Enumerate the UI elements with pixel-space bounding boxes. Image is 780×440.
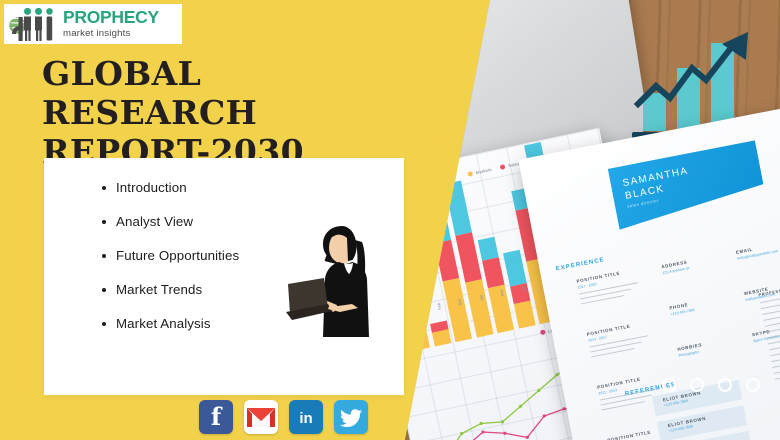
legend-swatch xyxy=(467,171,473,177)
experience-meta: 2017 - 2020 xyxy=(577,282,597,290)
experience-role: POSITION TITLE xyxy=(597,376,641,389)
list-item: Market Trends xyxy=(102,282,239,297)
list-item: Market Analysis xyxy=(102,316,239,331)
topics-list: IntroductionAnalyst ViewFuture Opportuni… xyxy=(102,180,239,350)
carousel-dot-3[interactable] xyxy=(718,378,732,392)
brand-name: PROPHECY xyxy=(63,9,159,27)
resume-header-banner: SAMANTHA BLACK sales director xyxy=(608,140,767,229)
bar-x-tick: Apr xyxy=(478,294,484,301)
experience-meta: 2014 - 2017 xyxy=(588,335,608,343)
bar-x-tick: Jun xyxy=(520,285,526,292)
line-data-point xyxy=(503,431,507,435)
legend-swatch xyxy=(500,164,506,170)
list-item: Analyst View xyxy=(102,214,239,229)
brand-logo[interactable]: PROPHECY market insights xyxy=(4,4,182,44)
text-placeholder-line xyxy=(771,350,780,362)
resume-section-experience: EXPERIENCE xyxy=(555,257,605,272)
experience-role: POSITION TITLE xyxy=(607,429,651,440)
woman-with-laptop-illustration xyxy=(280,216,392,348)
social-links[interactable]: f in xyxy=(199,400,368,434)
carousel-dot-2[interactable] xyxy=(690,378,704,392)
experience-meta: 2011 - 2014 xyxy=(598,388,617,396)
experience-role: POSITION TITLE xyxy=(586,323,630,336)
list-item: Introduction xyxy=(102,180,239,195)
laptop-screen xyxy=(417,0,603,4)
facebook-icon[interactable]: f xyxy=(199,400,233,434)
twitter-bird-glyph xyxy=(334,400,368,434)
bar-x-tick: Feb xyxy=(435,303,441,311)
gmail-envelope-glyph xyxy=(244,400,278,434)
desk-photo-panel: MarketsSalesOrders JanFebMarAprMayJunJul… xyxy=(380,0,780,440)
experience-role: POSITION TITLE xyxy=(576,270,620,283)
twitter-icon[interactable] xyxy=(334,400,368,434)
page-title: GLOBAL RESEARCH REPORT-2030 xyxy=(42,55,402,172)
brand-tagline: market insights xyxy=(63,29,159,39)
linkedin-glyph: in xyxy=(289,400,323,434)
carousel-dots[interactable] xyxy=(662,378,760,392)
slide-canvas: MarketsSalesOrders JanFebMarAprMayJunJul… xyxy=(0,0,780,440)
trend-arrow-icon xyxy=(630,26,756,126)
linkedin-icon[interactable]: in xyxy=(289,400,323,434)
carousel-dot-4[interactable] xyxy=(746,378,760,392)
gmail-icon[interactable] xyxy=(244,400,278,434)
carousel-dot-1[interactable] xyxy=(662,378,676,392)
bar-segment xyxy=(426,202,451,243)
brand-wordmark: PROPHECY market insights xyxy=(63,9,159,38)
facebook-glyph: f xyxy=(199,400,233,434)
pmi-monogram-icon xyxy=(8,7,62,41)
list-item: Future Opportunities xyxy=(102,248,239,263)
bar-x-tick: Jan xyxy=(415,307,421,314)
topics-card: IntroductionAnalyst ViewFuture Opportuni… xyxy=(44,158,404,395)
page-title-line1: GLOBAL RESEARCH xyxy=(42,54,257,132)
